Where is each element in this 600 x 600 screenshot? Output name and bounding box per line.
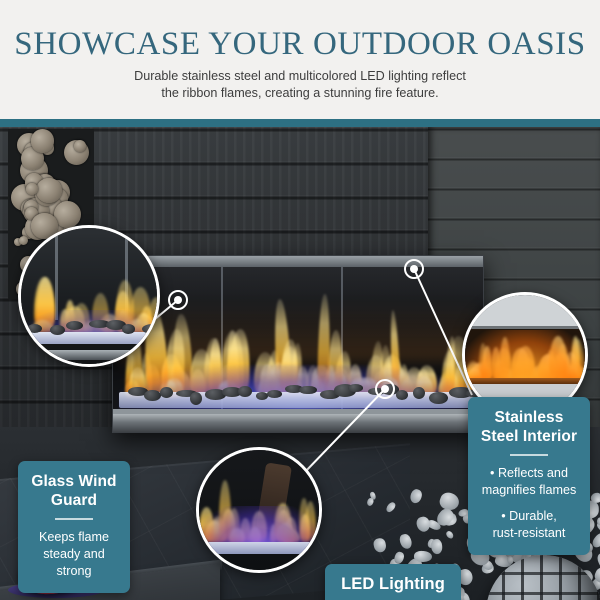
callout-divider-rule bbox=[55, 518, 93, 520]
linear-gas-fireplace bbox=[112, 255, 484, 433]
glass-wind-guard-zoom-image bbox=[21, 228, 157, 364]
led-lighting-zoom-circle bbox=[196, 447, 322, 573]
led-lighting-zoom-image bbox=[199, 450, 319, 570]
fireplace-top-trim bbox=[113, 256, 483, 267]
infographic-stage: SHOWCASE YOUR OUTDOOR OASIS Durable stai… bbox=[0, 0, 600, 600]
callout-steel-title: Stainless Steel Interior bbox=[476, 408, 582, 446]
callout-divider-rule bbox=[510, 454, 548, 456]
callout-steel-bullet-1-line-2: magnifies flames bbox=[482, 483, 577, 497]
callout-steel-bullet-1-line-1: • Reflects and bbox=[490, 466, 568, 480]
callout-led-title: LED Lighting bbox=[333, 575, 453, 594]
callout-glass-wind-guard[interactable]: Glass Wind Guard Keeps flame steady and … bbox=[18, 461, 130, 593]
glass-wind-guard-zoom-circle bbox=[18, 225, 160, 367]
header-band: SHOWCASE YOUR OUTDOOR OASIS Durable stai… bbox=[0, 0, 600, 119]
fireplace-base-trim bbox=[113, 414, 483, 432]
product-scene-photo: Glass Wind Guard Keeps flame steady and … bbox=[0, 127, 600, 600]
river-rock-media bbox=[119, 384, 479, 404]
page-subtitle: Durable stainless steel and multicolored… bbox=[60, 68, 540, 102]
accent-divider-bar bbox=[0, 119, 600, 127]
callout-glass-body: Keeps flame steady and strong bbox=[26, 529, 122, 580]
callout-led-lighting[interactable]: LED Lighting Multicolored technology add… bbox=[325, 564, 461, 600]
callout-steel-bullet-2: • Durable, rust-resistant bbox=[476, 508, 582, 542]
callout-glass-body-line-3: strong bbox=[56, 564, 91, 578]
page-title: SHOWCASE YOUR OUTDOOR OASIS bbox=[0, 26, 600, 63]
callout-steel-title-line-2: Steel Interior bbox=[481, 428, 577, 445]
callout-glass-title-line-2: Guard bbox=[51, 492, 97, 509]
callout-glass-title: Glass Wind Guard bbox=[26, 472, 122, 510]
callout-glass-body-line-2: steady and bbox=[43, 547, 105, 561]
subtitle-line-1: Durable stainless steel and multicolored… bbox=[134, 69, 466, 83]
callout-glass-title-line-1: Glass Wind bbox=[31, 473, 116, 490]
callout-steel-bullet-1: • Reflects and magnifies flames bbox=[476, 465, 582, 499]
callout-steel-bullet-2-line-1: • Durable, bbox=[501, 509, 557, 523]
subtitle-line-2: the ribbon flames, creating a stunning f… bbox=[161, 86, 438, 100]
marker-dot-glass-wind-guard[interactable] bbox=[168, 290, 188, 310]
callout-stainless-steel-interior[interactable]: Stainless Steel Interior • Reflects and … bbox=[468, 397, 590, 555]
callout-steel-bullet-2-line-2: rust-resistant bbox=[493, 526, 566, 540]
marker-dot-led-lighting[interactable] bbox=[375, 379, 395, 399]
callout-glass-body-line-1: Keeps flame bbox=[39, 530, 109, 544]
callout-steel-title-line-1: Stainless bbox=[495, 409, 564, 426]
marker-dot-stainless-steel[interactable] bbox=[404, 259, 424, 279]
